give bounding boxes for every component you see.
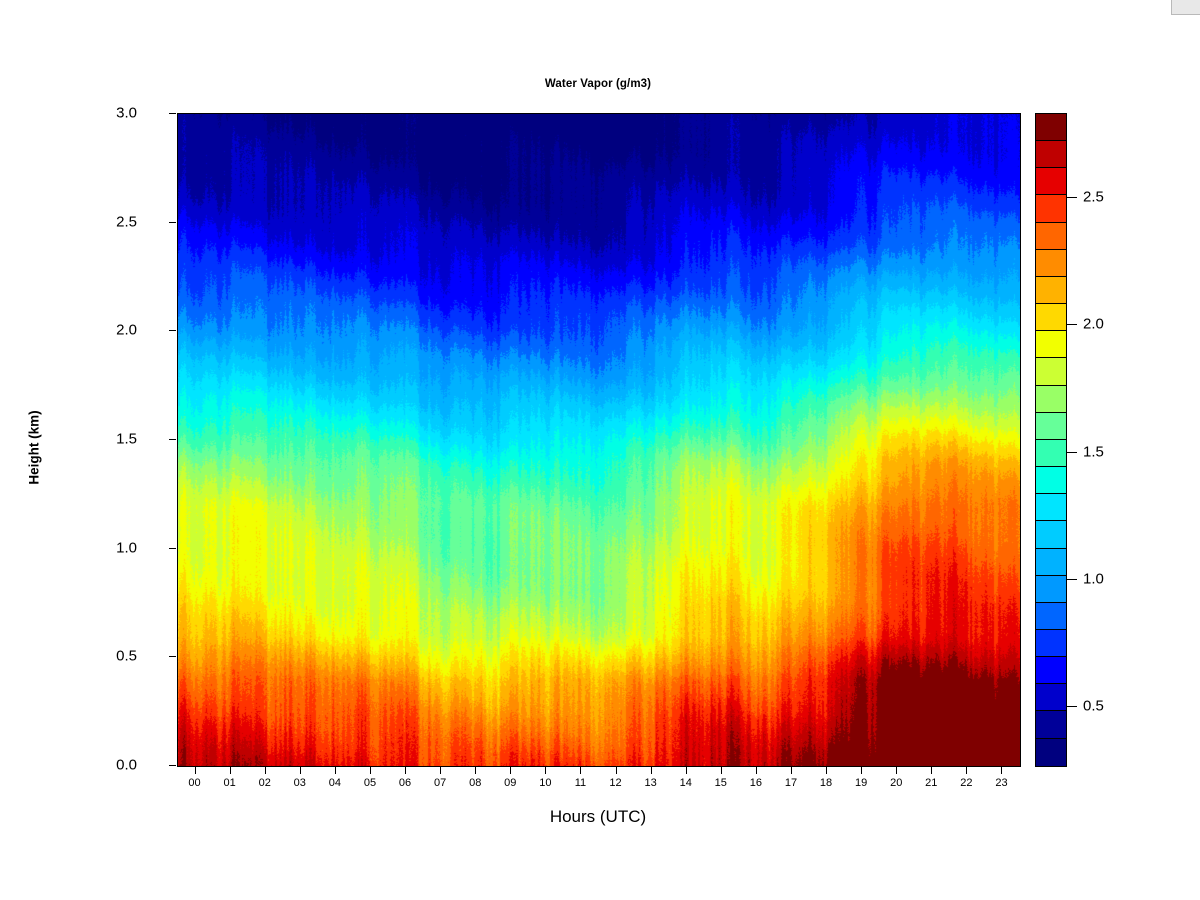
y-axis-tick: [169, 548, 176, 549]
colorbar-tick: [1066, 197, 1077, 198]
x-axis-tick: [686, 766, 687, 774]
colorbar-tick-label: 2.5: [1083, 189, 1104, 206]
colorbar-tick-label: 2.0: [1083, 316, 1104, 333]
x-axis-tick: [756, 766, 757, 774]
colorbar-tick-label: 1.0: [1083, 571, 1104, 588]
x-axis-tick-label: 20: [890, 777, 902, 789]
corner-artifact: [1171, 0, 1200, 15]
x-axis-tick: [230, 766, 231, 774]
x-axis-tick: [791, 766, 792, 774]
y-axis-tick-label: 3.0: [116, 105, 137, 122]
x-axis-tick: [545, 766, 546, 774]
x-axis-tick-label: 16: [750, 777, 762, 789]
x-axis-tick: [721, 766, 722, 774]
x-axis-tick: [265, 766, 266, 774]
x-axis-tick-label: 01: [224, 777, 236, 789]
x-axis-tick-label: 15: [715, 777, 727, 789]
x-axis-tick: [195, 766, 196, 774]
heatmap-plot-area: [177, 113, 1021, 767]
y-axis-tick: [169, 656, 176, 657]
x-axis-tick-label: 21: [925, 777, 937, 789]
colorbar-tick-label: 0.5: [1083, 698, 1104, 715]
x-axis-tick: [335, 766, 336, 774]
x-axis-tick: [1001, 766, 1002, 774]
colorbar-tick: [1066, 579, 1077, 580]
x-axis-tick: [510, 766, 511, 774]
y-axis-tick: [169, 330, 176, 331]
y-axis-tick: [169, 439, 176, 440]
x-axis-tick-label: 04: [329, 777, 341, 789]
x-axis-tick: [440, 766, 441, 774]
x-axis-tick: [405, 766, 406, 774]
x-axis-tick-label: 07: [434, 777, 446, 789]
x-axis-tick: [370, 766, 371, 774]
x-axis-tick: [966, 766, 967, 774]
y-axis-tick-label: 1.0: [116, 539, 137, 556]
colorbar-tick-label: 1.5: [1083, 443, 1104, 460]
x-axis-tick-label: 12: [609, 777, 621, 789]
y-axis: Height (km) 0.00.51.01.52.02.53.0: [0, 0, 177, 900]
y-axis-tick: [169, 113, 176, 114]
page-title: Water Vapor (g/m3): [177, 78, 1019, 90]
x-axis-tick-label: 08: [469, 777, 481, 789]
y-axis-tick: [169, 222, 176, 223]
y-axis-tick-label: 1.5: [116, 431, 137, 448]
x-axis-tick-label: 14: [680, 777, 692, 789]
y-axis-tick-label: 2.0: [116, 322, 137, 339]
x-axis-tick-label: 13: [645, 777, 657, 789]
x-axis-tick-label: 00: [188, 777, 200, 789]
x-axis: Hours (UTC) 0001020304050607080910111213…: [0, 766, 1200, 876]
x-axis-tick: [475, 766, 476, 774]
x-axis-tick-label: 06: [399, 777, 411, 789]
x-axis-tick-label: 17: [785, 777, 797, 789]
colorbar-tick: [1066, 706, 1077, 707]
figure-canvas: Water Vapor (g/m3) Height (km) 0.00.51.0…: [0, 0, 1200, 900]
colorbar-tick-group: 0.51.01.52.02.5: [1035, 113, 1155, 765]
heatmap-canvas: [178, 114, 1020, 766]
x-axis-tick: [616, 766, 617, 774]
x-axis-tick: [896, 766, 897, 774]
x-axis-tick-label: 19: [855, 777, 867, 789]
x-axis-tick-label: 05: [364, 777, 376, 789]
x-axis-tick: [580, 766, 581, 774]
x-axis-tick-label: 11: [575, 777, 586, 789]
x-axis-tick-label: 02: [259, 777, 271, 789]
x-axis-tick: [826, 766, 827, 774]
x-axis-tick-label: 03: [294, 777, 306, 789]
x-axis-tick-label: 09: [504, 777, 516, 789]
x-axis-tick-label: 18: [820, 777, 832, 789]
y-axis-tick-label: 2.5: [116, 213, 137, 230]
y-axis-title: Height (km): [27, 378, 42, 518]
x-axis-tick: [931, 766, 932, 774]
x-axis-tick: [651, 766, 652, 774]
colorbar-tick: [1066, 452, 1077, 453]
x-axis-tick-label: 22: [960, 777, 972, 789]
y-axis-tick-label: 0.5: [116, 648, 137, 665]
x-axis-tick: [300, 766, 301, 774]
colorbar-tick: [1066, 324, 1077, 325]
x-axis-tick-label: 23: [995, 777, 1007, 789]
x-axis-tick: [861, 766, 862, 774]
x-axis-tick-label: 10: [539, 777, 551, 789]
x-axis-title: Hours (UTC): [177, 807, 1019, 827]
